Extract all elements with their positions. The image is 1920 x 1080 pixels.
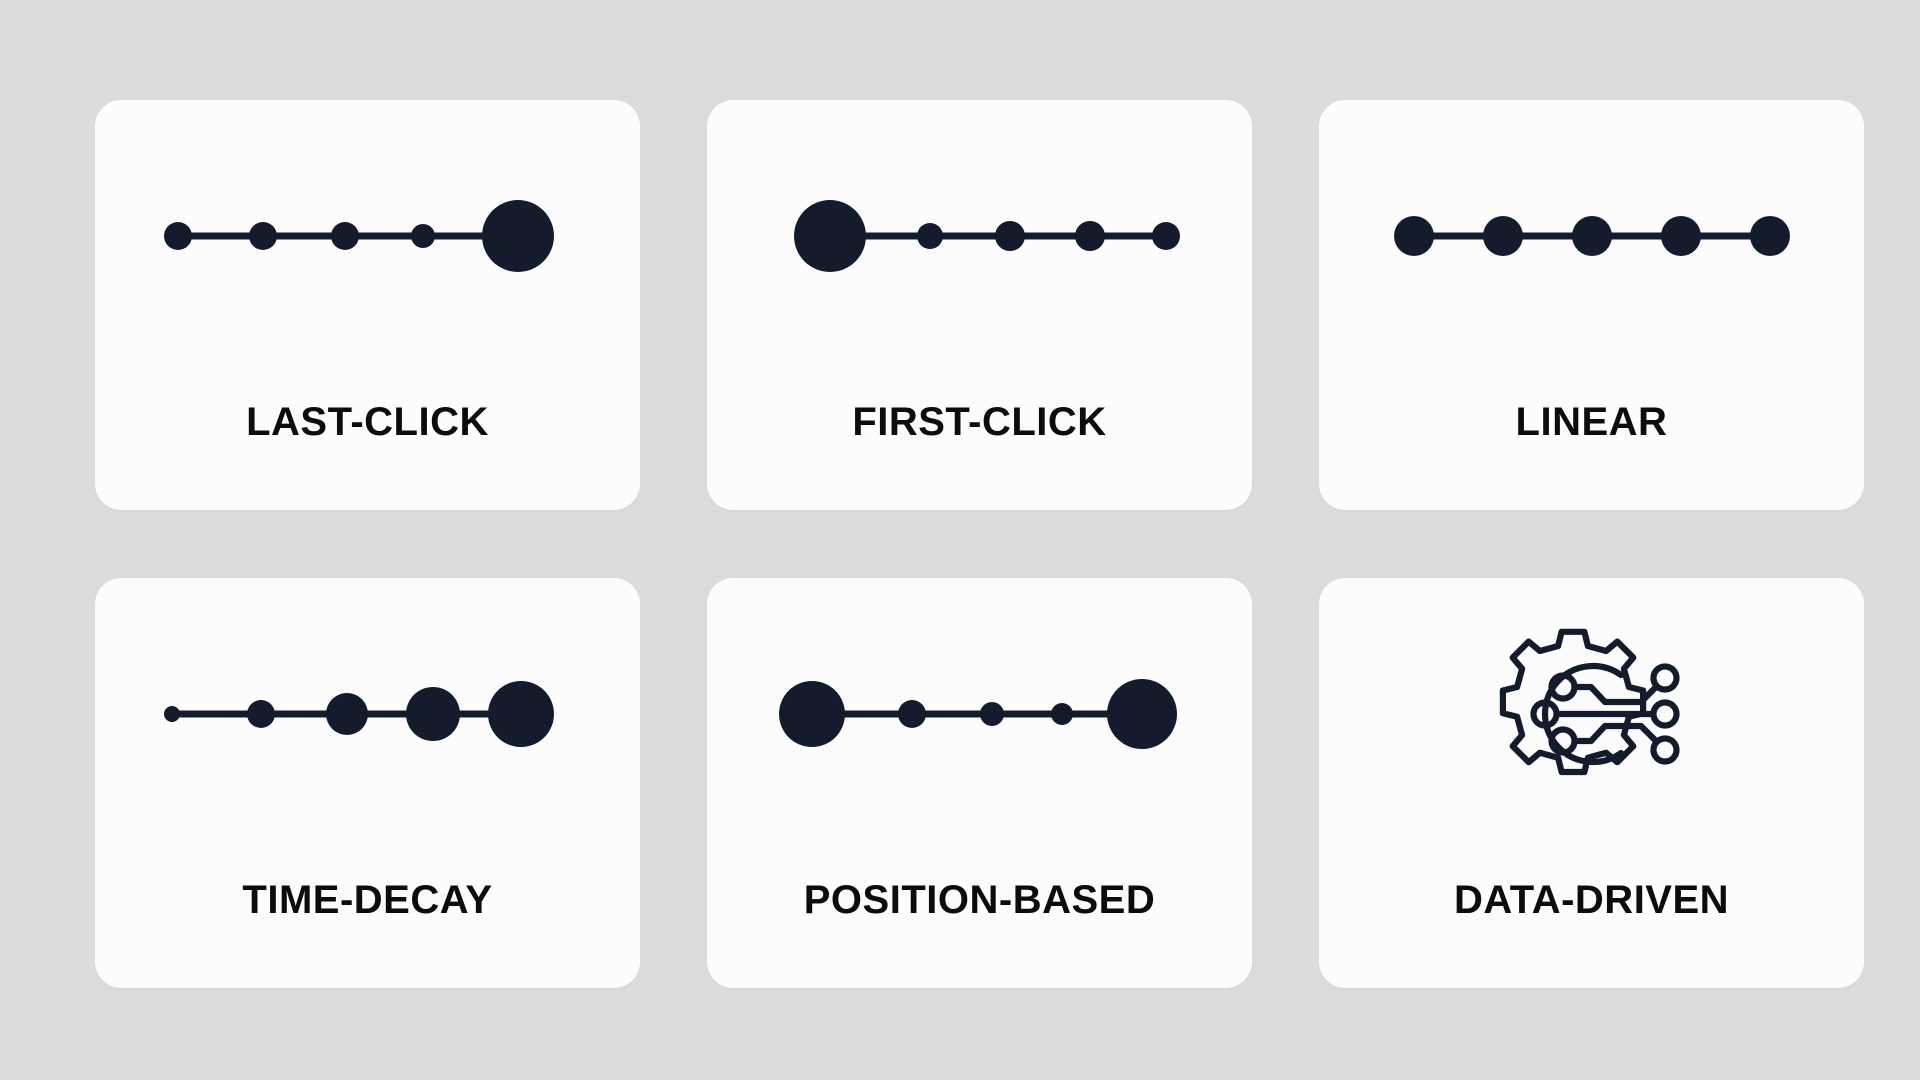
gear-circuit-icon bbox=[1319, 578, 1864, 850]
timeline-position-based-icon bbox=[707, 578, 1252, 850]
card-linear[interactable]: LINEAR bbox=[1319, 100, 1864, 510]
timeline-last-click-icon bbox=[95, 100, 640, 372]
timeline-first-click-icon bbox=[707, 100, 1252, 372]
timeline-linear-icon bbox=[1319, 100, 1864, 372]
card-label-first-click: FIRST-CLICK bbox=[707, 402, 1252, 442]
card-grid: LAST-CLICK FIRST-CLICK bbox=[95, 100, 1855, 990]
card-data-driven[interactable]: DATA-DRIVEN bbox=[1319, 578, 1864, 988]
card-position-based[interactable]: POSITION-BASED bbox=[707, 578, 1252, 988]
card-last-click[interactable]: LAST-CLICK bbox=[95, 100, 640, 510]
card-label-time-decay: TIME-DECAY bbox=[95, 880, 640, 920]
card-time-decay[interactable]: TIME-DECAY bbox=[95, 578, 640, 988]
card-label-linear: LINEAR bbox=[1319, 402, 1864, 442]
card-label-last-click: LAST-CLICK bbox=[95, 402, 640, 442]
card-label-data-driven: DATA-DRIVEN bbox=[1319, 880, 1864, 920]
attribution-models-board: LAST-CLICK FIRST-CLICK bbox=[0, 0, 1920, 1080]
timeline-time-decay-icon bbox=[95, 578, 640, 850]
card-first-click[interactable]: FIRST-CLICK bbox=[707, 100, 1252, 510]
card-label-position-based: POSITION-BASED bbox=[707, 880, 1252, 920]
